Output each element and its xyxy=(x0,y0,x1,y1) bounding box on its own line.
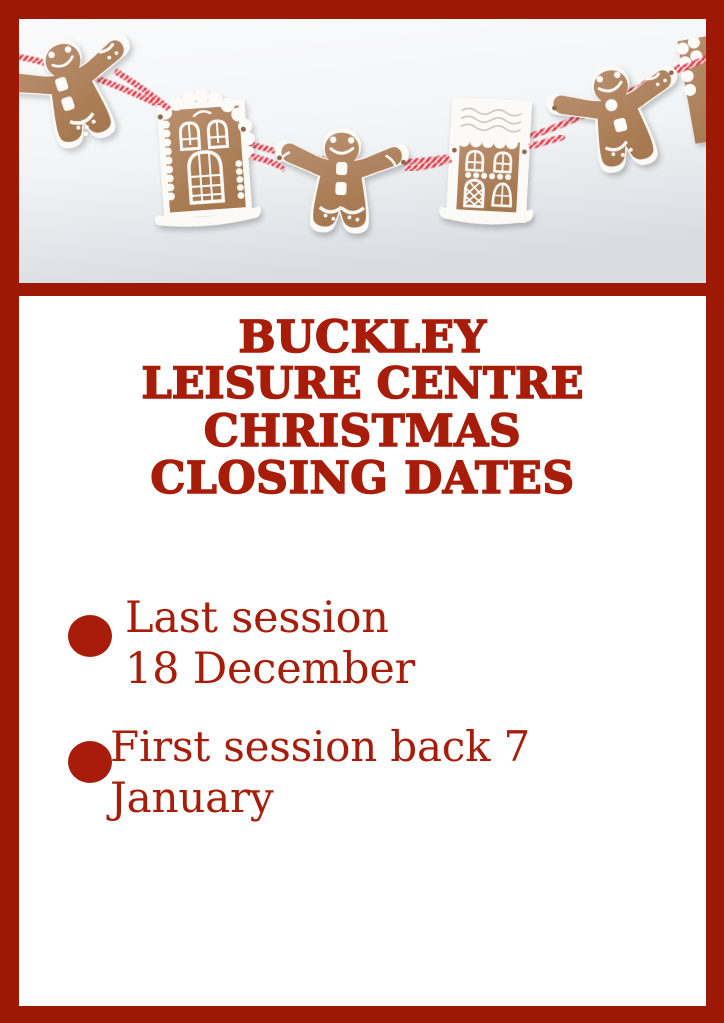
last-session-line-1: Last session xyxy=(125,593,706,644)
list-item-last-session: Last session 18 December xyxy=(19,593,706,697)
last-session-line-2: 18 December xyxy=(125,644,706,695)
closing-dates-list: Last session 18 December First session b… xyxy=(19,593,706,825)
first-session-line-1: First session back 7 xyxy=(110,721,706,772)
bullet-dot-icon xyxy=(68,615,112,657)
bullet-dot-icon xyxy=(68,741,112,783)
title-line-1: BUCKLEY xyxy=(19,314,706,361)
first-session-back-text: First session back 7 January xyxy=(19,721,706,823)
page-title: BUCKLEY LEISURE CENTRE CHRISTMAS CLOSING… xyxy=(19,314,706,502)
gingerbread-garland-illustration xyxy=(19,19,706,283)
title-line-4: CLOSING DATES xyxy=(19,455,706,502)
poster: BUCKLEY LEISURE CENTRE CHRISTMAS CLOSING… xyxy=(0,0,724,1023)
title-line-3: CHRISTMAS xyxy=(19,408,706,455)
first-session-line-2: January xyxy=(110,772,706,823)
list-item-first-session-back: First session back 7 January xyxy=(19,721,706,825)
last-session-text: Last session 18 December xyxy=(19,593,706,695)
content-card: BUCKLEY LEISURE CENTRE CHRISTMAS CLOSING… xyxy=(19,296,706,1006)
gingerbread-garland-photo xyxy=(19,19,706,283)
title-line-2: LEISURE CENTRE xyxy=(19,361,706,408)
